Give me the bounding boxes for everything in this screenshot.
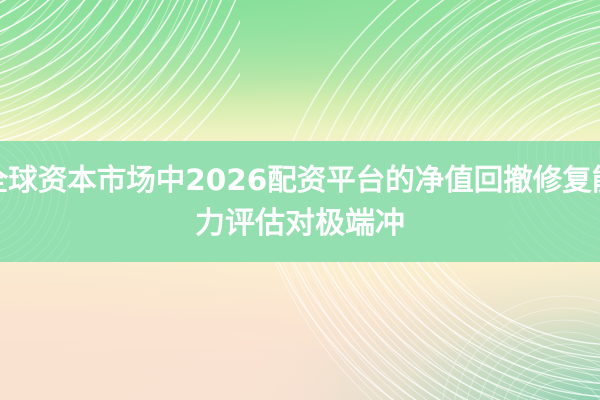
title-line-1: 全球资本市场中2026配资平台的净值回撤修复能 <box>0 158 600 202</box>
title-line-2: 力评估对极端冲 <box>195 202 405 246</box>
title-band: 全球资本市场中2026配资平台的净值回撤修复能 力评估对极端冲 <box>0 141 600 262</box>
banner-container: 全球资本市场中2026配资平台的净值回撤修复能 力评估对极端冲 <box>0 0 600 400</box>
